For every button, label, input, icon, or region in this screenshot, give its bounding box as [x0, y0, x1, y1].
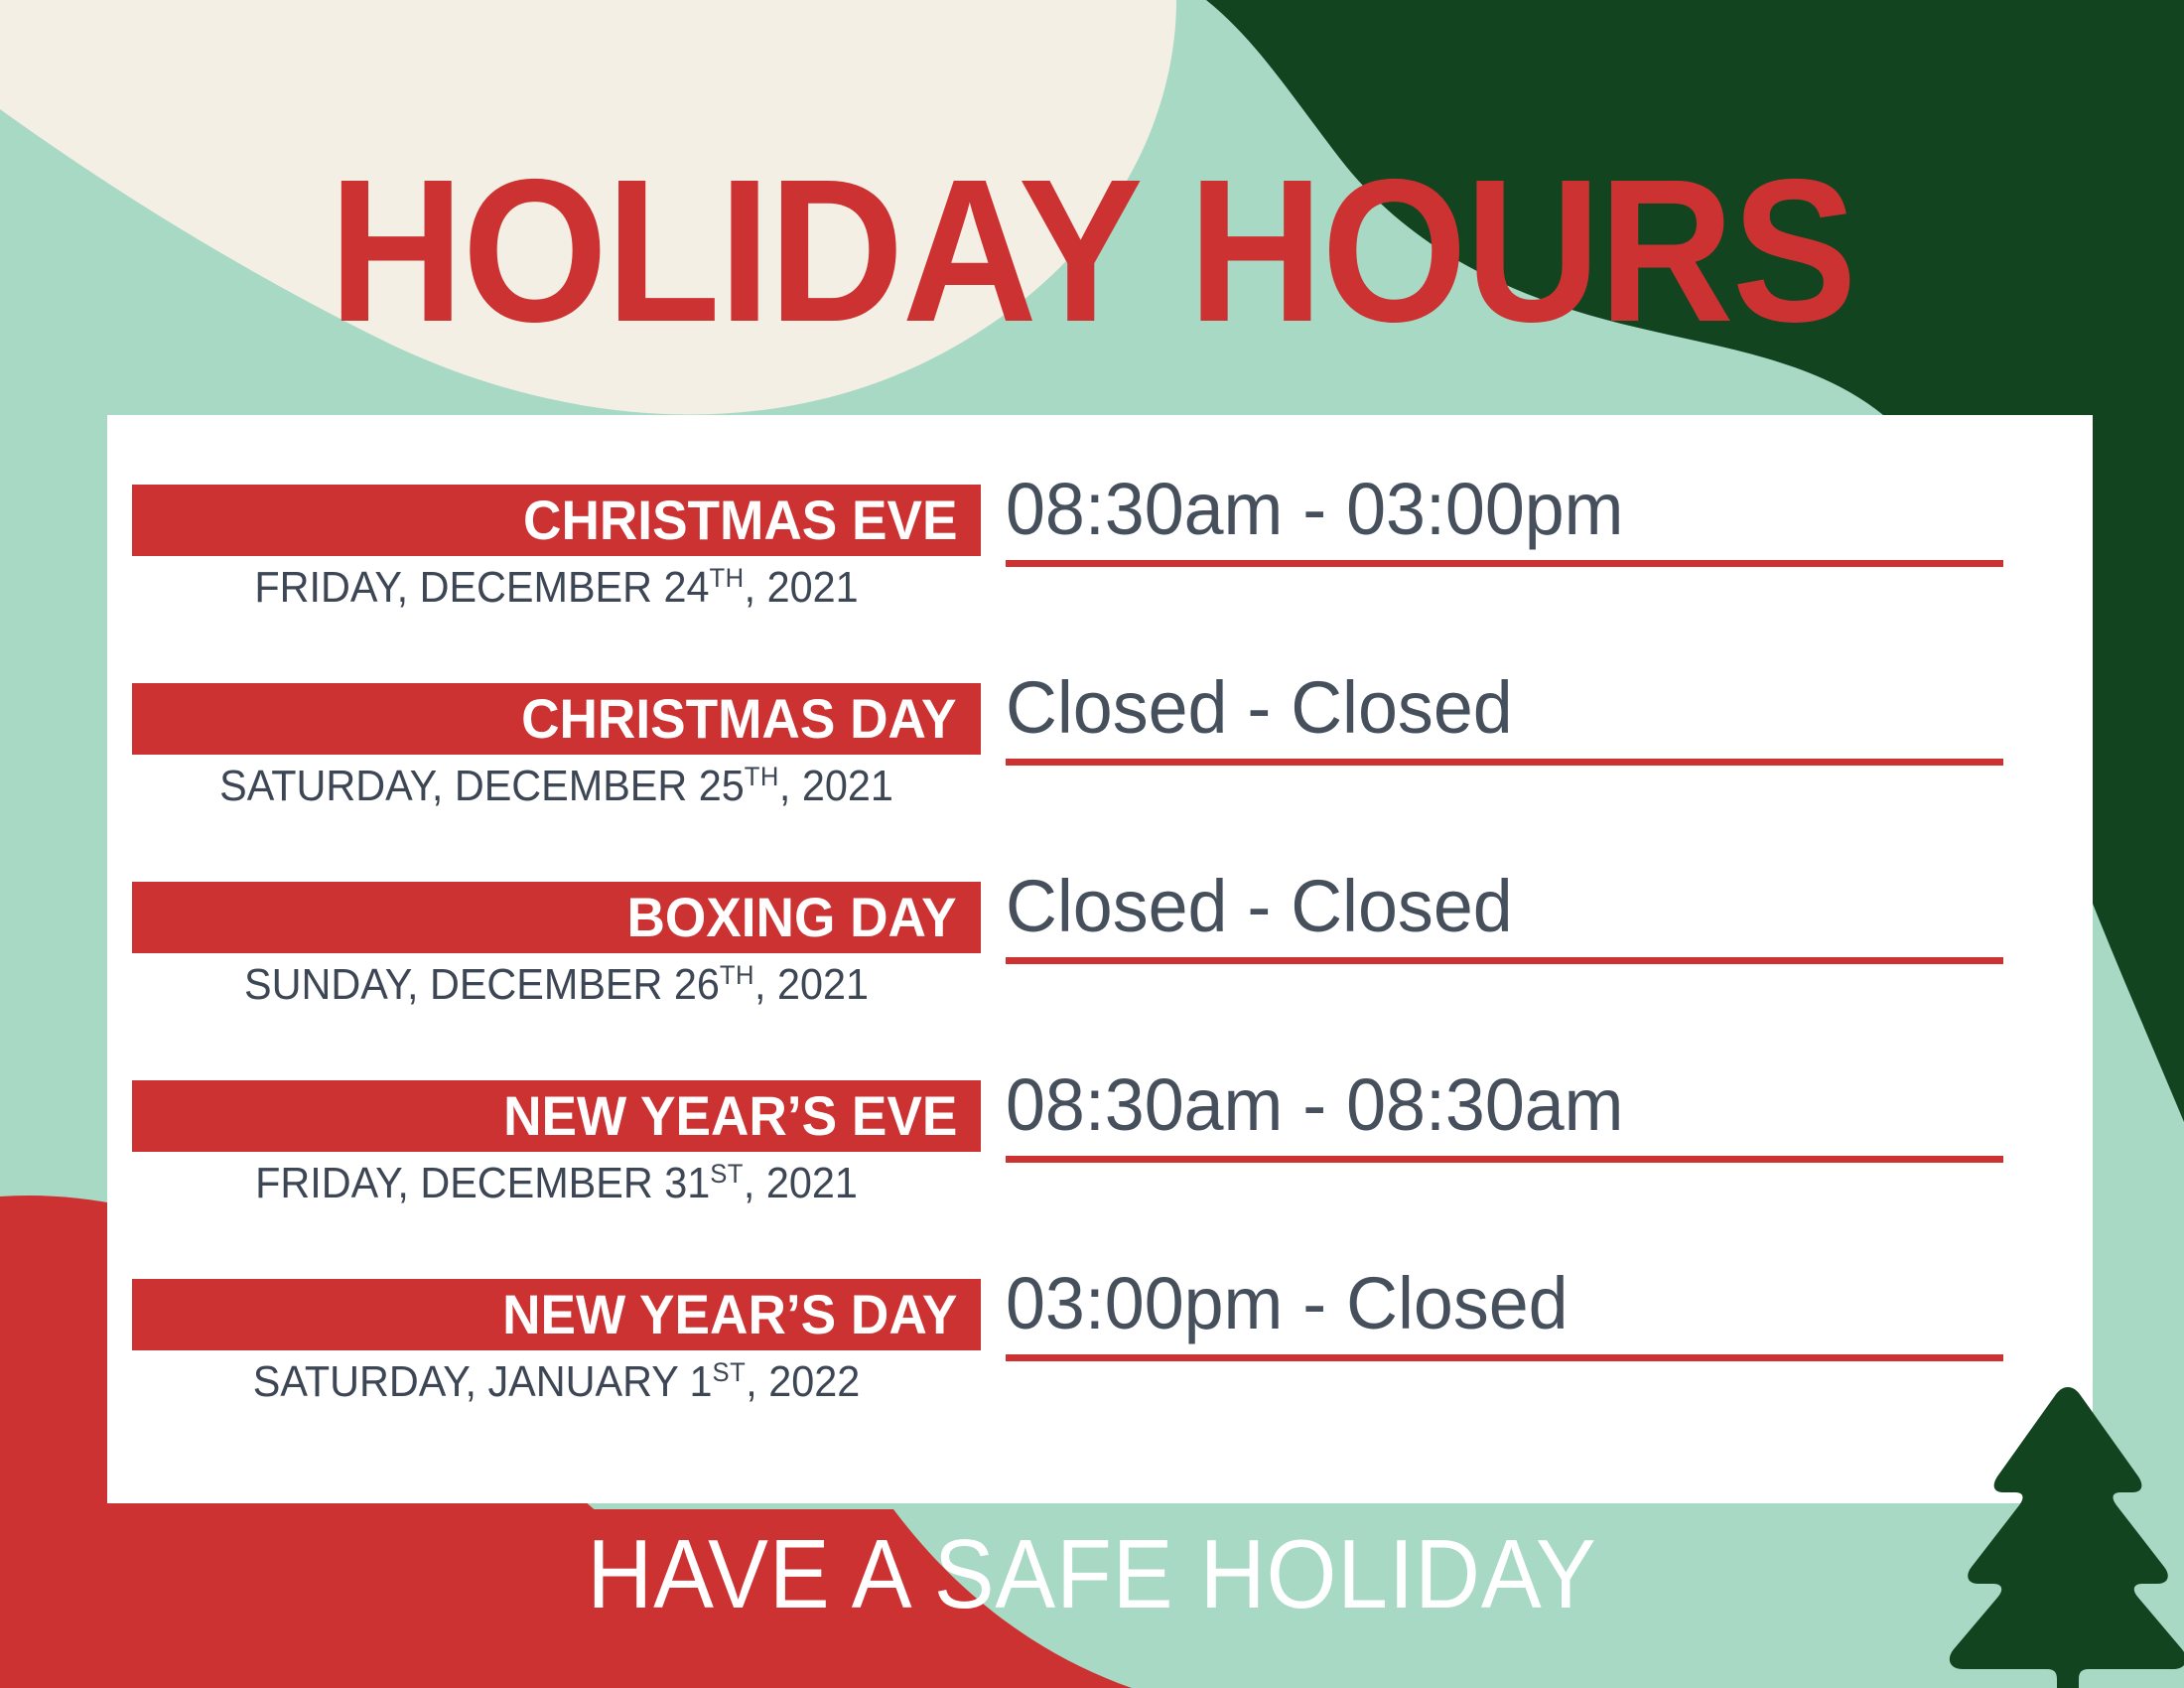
holiday-date: SUNDAY, DECEMBER 26TH, 2021 — [158, 959, 956, 1011]
holiday-date-ordinal: ST — [710, 1158, 744, 1189]
table-row: BOXING DAY SUNDAY, DECEMBER 26TH, 2021 C… — [107, 882, 2093, 1080]
holiday-date-year: , 2021 — [745, 563, 859, 612]
holiday-name: BOXING DAY — [627, 890, 957, 945]
holiday-date-prefix: SUNDAY, DECEMBER 26 — [244, 960, 720, 1009]
holiday-name: CHRISTMAS DAY — [522, 691, 957, 747]
holiday-hours: 03:00pm - Closed — [1006, 1267, 1979, 1340]
page-title: HOLIDAY HOURS — [87, 149, 2097, 352]
holiday-date-year: , 2021 — [744, 1159, 858, 1207]
holiday-name: CHRISTMAS EVE — [523, 492, 957, 548]
holiday-hours-poster: HOLIDAY HOURS CHRISTMAS EVE FRIDAY, DECE… — [0, 0, 2184, 1688]
holiday-date: FRIDAY, DECEMBER 31ST, 2021 — [158, 1158, 956, 1209]
holiday-name-bar: BOXING DAY — [132, 882, 981, 953]
schedule-card: CHRISTMAS EVE FRIDAY, DECEMBER 24TH, 202… — [107, 415, 2093, 1503]
holiday-date-ordinal: TH — [720, 959, 754, 990]
holiday-name: NEW YEAR’S DAY — [502, 1287, 957, 1342]
holiday-date-ordinal: TH — [745, 761, 779, 791]
holiday-hours: Closed - Closed — [1006, 870, 1979, 943]
table-row: CHRISTMAS EVE FRIDAY, DECEMBER 24TH, 202… — [107, 485, 2093, 683]
table-row: NEW YEAR’S DAY SATURDAY, JANUARY 1ST, 20… — [107, 1279, 2093, 1477]
table-row: CHRISTMAS DAY SATURDAY, DECEMBER 25TH, 2… — [107, 683, 2093, 882]
holiday-date-prefix: FRIDAY, DECEMBER 31 — [255, 1159, 710, 1207]
holiday-date: SATURDAY, DECEMBER 25TH, 2021 — [158, 761, 956, 812]
holiday-name: NEW YEAR’S EVE — [503, 1088, 957, 1144]
christmas-tree-icon — [1944, 1385, 2184, 1688]
holiday-hours: 08:30am - 03:00pm — [1006, 473, 1979, 546]
holiday-name-bar: CHRISTMAS DAY — [132, 683, 981, 755]
holiday-hours: Closed - Closed — [1006, 671, 1979, 745]
hours-underline — [1006, 560, 2003, 567]
holiday-date-ordinal: ST — [713, 1356, 747, 1387]
hours-underline — [1006, 1156, 2003, 1163]
hours-underline — [1006, 759, 2003, 766]
holiday-hours: 08:30am - 08:30am — [1006, 1068, 1979, 1142]
holiday-date-year: , 2022 — [746, 1357, 860, 1406]
holiday-date: SATURDAY, JANUARY 1ST, 2022 — [158, 1356, 956, 1408]
footer-message: HAVE A SAFE HOLIDAY — [76, 1525, 2108, 1622]
holiday-date-ordinal: TH — [710, 562, 745, 593]
holiday-name-bar: CHRISTMAS EVE — [132, 485, 981, 556]
holiday-date-year: , 2021 — [754, 960, 869, 1009]
holiday-date-prefix: SATURDAY, JANUARY 1 — [253, 1357, 713, 1406]
holiday-date-prefix: SATURDAY, DECEMBER 25 — [219, 762, 745, 810]
holiday-name-bar: NEW YEAR’S EVE — [132, 1080, 981, 1152]
hours-underline — [1006, 957, 2003, 964]
holiday-date-prefix: FRIDAY, DECEMBER 24 — [254, 563, 709, 612]
holiday-date-year: , 2021 — [779, 762, 893, 810]
holiday-date: FRIDAY, DECEMBER 24TH, 2021 — [158, 562, 956, 614]
table-row: NEW YEAR’S EVE FRIDAY, DECEMBER 31ST, 20… — [107, 1080, 2093, 1279]
holiday-name-bar: NEW YEAR’S DAY — [132, 1279, 981, 1350]
hours-underline — [1006, 1354, 2003, 1361]
